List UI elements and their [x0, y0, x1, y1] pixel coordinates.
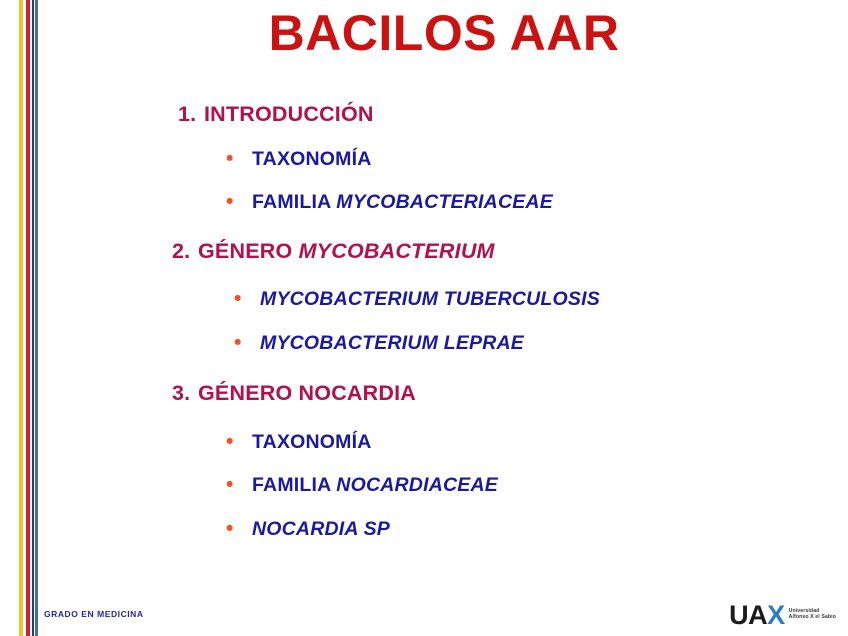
bullet-text-plain: TAXONOMÍA [252, 431, 372, 453]
uax-wordmark: UAX [729, 602, 785, 629]
uax-logo-subtitle: Universidad Alfonso X el Sabio [789, 609, 836, 620]
bullet-dot-icon: • [226, 518, 252, 539]
program-label: GRADO EN MEDICINA [44, 609, 144, 619]
bullet-dot-icon: • [226, 191, 252, 212]
outline-section-1: 1. INTRODUCCIÓN • TAXONOMÍA • FAMILIA MY… [172, 104, 832, 213]
section-title-2: GÉNERO MYCOBACTERIUM [198, 241, 495, 263]
section-title-3: GÉNERO NOCARDIA [198, 383, 416, 405]
section-number-1: 1. [178, 104, 204, 126]
outline-content: 1. INTRODUCCIÓN • TAXONOMÍA • FAMILIA MY… [172, 104, 832, 539]
bullet-dot-icon: • [226, 148, 252, 169]
bullet-text: MYCOBACTERIUM TUBERCULOSIS [260, 290, 600, 310]
section-title-2-plain: GÉNERO [198, 239, 299, 263]
bullet-text-plain: FAMILIA [252, 191, 336, 213]
stripe-navy [32, 0, 35, 636]
bullet-text: TAXONOMÍA [252, 433, 372, 453]
section-number-2: 2. [172, 241, 198, 263]
bullet-text: FAMILIA NOCARDIACEAE [252, 476, 498, 496]
bullet-dot-icon: • [226, 431, 252, 452]
bullet-list-2: • MYCOBACTERIUM TUBERCULOSIS • MYCOBACTE… [172, 288, 832, 353]
bullet-text: FAMILIA MYCOBACTERIACEAE [252, 193, 553, 213]
outline-section-2: 2. GÉNERO MYCOBACTERIUM • MYCOBACTERIUM … [172, 241, 832, 354]
uax-logo: UAX Universidad Alfonso X el Sabio [729, 600, 836, 630]
bullet-list-1: • TAXONOMÍA • FAMILIA MYCOBACTERIACEAE [172, 148, 832, 213]
list-item: • TAXONOMÍA [226, 431, 832, 453]
section-number-3: 3. [172, 383, 198, 405]
section-title-2-italic: MYCOBACTERIUM [299, 239, 495, 263]
bullet-dot-icon: • [234, 288, 260, 309]
left-stripe-band [0, 0, 60, 636]
bullet-text-italic: MYCOBACTERIACEAE [336, 191, 553, 213]
bullet-list-3: • TAXONOMÍA • FAMILIA NOCARDIACEAE • NOC… [172, 431, 832, 540]
list-item: • FAMILIA NOCARDIACEAE [226, 474, 832, 496]
section-title-1: INTRODUCCIÓN [204, 104, 374, 126]
bullet-text: TAXONOMÍA [252, 150, 372, 170]
list-item: • FAMILIA MYCOBACTERIACEAE [226, 191, 832, 213]
section-title-1-plain: INTRODUCCIÓN [204, 102, 374, 126]
uax-wordmark-x: X [767, 600, 785, 630]
uax-logo-subtitle-line2: Alfonso X el Sabio [789, 614, 836, 620]
stripe-gold [19, 0, 23, 636]
bullet-text-italic: MYCOBACTERIUM LEPRAE [260, 332, 524, 354]
bullet-text: MYCOBACTERIUM LEPRAE [260, 334, 524, 354]
list-item: • MYCOBACTERIUM TUBERCULOSIS [234, 288, 832, 310]
bullet-dot-icon: • [226, 474, 252, 495]
slide-title: BACILOS AAR [60, 6, 828, 61]
stripe-red [26, 0, 30, 636]
bullet-text-italic: NOCARDIA SP [252, 518, 390, 540]
list-item: • NOCARDIA SP [226, 518, 832, 540]
outline-section-3: 3. GÉNERO NOCARDIA • TAXONOMÍA • FAMILIA… [172, 383, 832, 539]
bullet-text: NOCARDIA SP [252, 520, 390, 540]
bullet-text-plain: TAXONOMÍA [252, 148, 372, 170]
uax-wordmark-ua: UA [729, 600, 767, 630]
section-heading-3: 3. GÉNERO NOCARDIA [172, 383, 832, 405]
list-item: • TAXONOMÍA [226, 148, 832, 170]
bullet-dot-icon: • [234, 332, 260, 353]
stripe-steel [35, 0, 38, 636]
section-title-3-plain: GÉNERO NOCARDIA [198, 381, 416, 405]
bullet-text-plain: FAMILIA [252, 474, 336, 496]
section-heading-2: 2. GÉNERO MYCOBACTERIUM [172, 241, 832, 263]
section-heading-1: 1. INTRODUCCIÓN [178, 104, 832, 126]
bullet-text-italic: MYCOBACTERIUM TUBERCULOSIS [260, 288, 600, 310]
bullet-text-italic: NOCARDIACEAE [336, 474, 498, 496]
list-item: • MYCOBACTERIUM LEPRAE [234, 332, 832, 354]
